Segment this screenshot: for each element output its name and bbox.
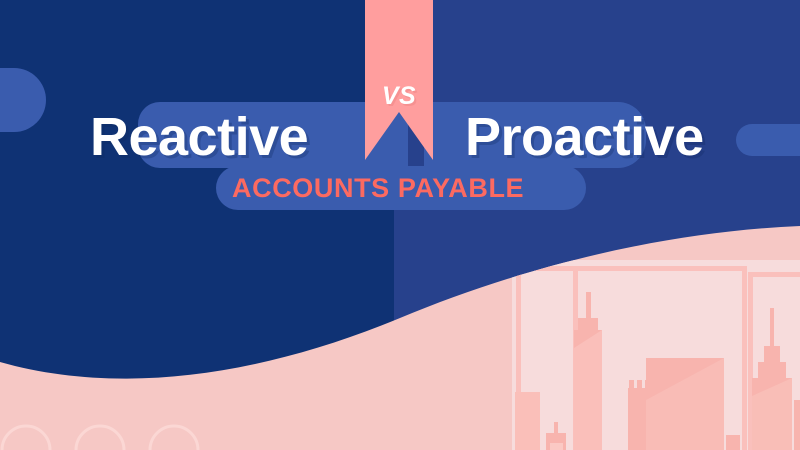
versus-label: VS bbox=[365, 82, 433, 111]
right-edge-bar bbox=[736, 124, 800, 156]
city-skyline-silhouette bbox=[0, 200, 800, 450]
subtitle-accounts-payable: ACCOUNTS PAYABLE bbox=[232, 175, 524, 202]
headline-word-reactive: Reactive bbox=[90, 110, 308, 164]
poster-canvas: Reactive Proactive VS ACCOUNTS PAYABLE bbox=[0, 0, 800, 450]
headline-word-proactive: Proactive bbox=[465, 110, 704, 164]
arch-outlines bbox=[0, 418, 200, 450]
